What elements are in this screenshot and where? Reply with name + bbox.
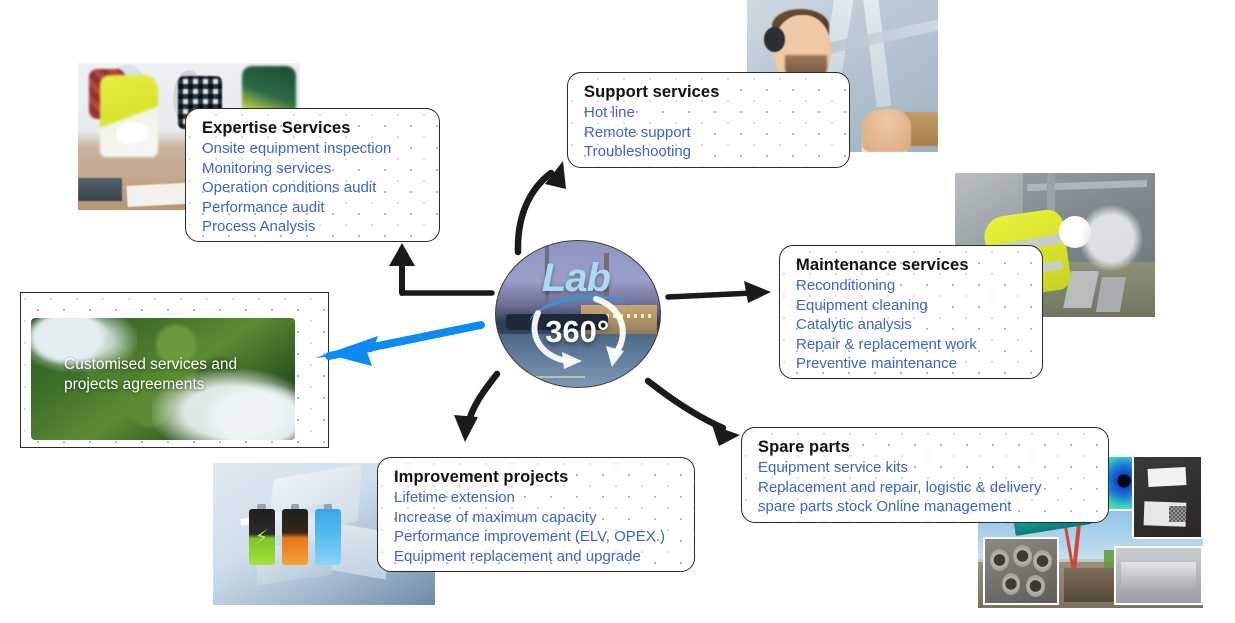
diagram-canvas: ⚡ Customised services and projects agree… [0, 0, 1235, 623]
list-item: Hot line [584, 103, 835, 123]
list-item: Reconditioning [796, 276, 1028, 296]
lab-360-logo[interactable]: Lab 360° [495, 240, 661, 388]
list-item: Repair & replacement work [796, 335, 1028, 355]
rotation-arrows-icon [496, 241, 661, 388]
card-support-services[interactable]: Support services Hot line Remote support… [567, 72, 850, 168]
card-support-list: Hot line Remote support Troubleshooting [584, 103, 835, 162]
list-item: Equipment service kits [758, 458, 1094, 478]
list-item: Onsite equipment inspection [202, 139, 425, 159]
list-item: Troubleshooting [584, 142, 835, 162]
arrow-to-expertise [389, 243, 492, 293]
card-improvement-heading: Improvement projects [394, 468, 680, 487]
arrow-to-customised [315, 325, 481, 366]
card-expertise-list: Onsite equipment inspection Monitoring s… [202, 139, 425, 237]
card-spare-parts-list: Equipment service kits Replacement and r… [758, 458, 1094, 517]
card-spare-parts-heading: Spare parts [758, 438, 1094, 457]
card-expertise-services[interactable]: Expertise Services Onsite equipment insp… [185, 108, 440, 242]
list-item: Replacement and repair, logistic & deliv… [758, 478, 1094, 498]
card-support-heading: Support services [584, 83, 835, 102]
arrow-to-maintenance [668, 281, 771, 303]
list-item: Performance improvement (ELV, OPEX.) [394, 527, 680, 547]
card-spare-parts[interactable]: Spare parts Equipment service kits Repla… [741, 427, 1109, 523]
arrow-to-improvement [454, 374, 497, 442]
card-improvement-projects[interactable]: Improvement projects Lifetime extension … [377, 457, 695, 572]
card-maintenance-list: Reconditioning Equipment cleaning Cataly… [796, 276, 1028, 374]
customised-services-caption: Customised services and projects agreeme… [64, 355, 274, 395]
card-maintenance-heading: Maintenance services [796, 256, 1028, 275]
card-expertise-heading: Expertise Services [202, 119, 425, 138]
list-item: Catalytic analysis [796, 315, 1028, 335]
list-item: Remote support [584, 123, 835, 143]
list-item: Equipment cleaning [796, 296, 1028, 316]
card-improvement-list: Lifetime extension Increase of maximum c… [394, 488, 680, 566]
list-item: Operation conditions audit [202, 178, 425, 198]
list-item: Process Analysis [202, 217, 425, 237]
list-item: Performance audit [202, 198, 425, 218]
list-item: Equipment replacement and upgrade [394, 547, 680, 567]
list-item: Monitoring services [202, 159, 425, 179]
card-maintenance-services[interactable]: Maintenance services Reconditioning Equi… [779, 245, 1043, 379]
list-item: Lifetime extension [394, 488, 680, 508]
arrow-to-support [518, 161, 566, 252]
list-item: spare parts stock Online management [758, 497, 1094, 517]
arrow-to-spare-parts [648, 381, 740, 446]
list-item: Preventive maintenance [796, 354, 1028, 374]
list-item: Increase of maximum capacity [394, 508, 680, 528]
